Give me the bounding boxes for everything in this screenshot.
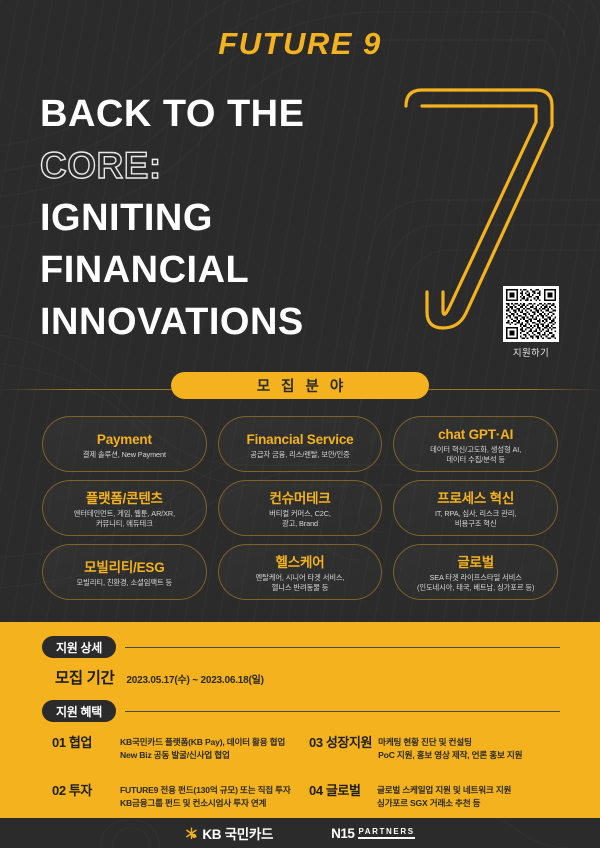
field-card-desc: 공급자 금융, 리스/렌탈, 보안/인증 (250, 450, 349, 460)
period-title: 모집 기간 (55, 666, 114, 688)
field-card[interactable]: 프로세스 혁신 IT, RPA, 심사, 리스크 관리,비용구조 혁신 (393, 480, 558, 536)
headline-line-1: BACK TO THE (40, 88, 440, 140)
footer-contour-lines (0, 818, 600, 848)
kb-logo: KB 국민카드 (185, 823, 273, 843)
field-card-desc: 모빌리티, 친환경, 소셜임팩트 등 (77, 578, 173, 588)
field-card-desc: IT, RPA, 심사, 리스크 관리,비용구조 혁신 (435, 509, 516, 529)
benefit-line: KB금융그룹 펀드 및 컨소시엄사 투자 연계 (120, 797, 291, 810)
field-card[interactable]: 컨슈머테크 버티컬 커머스, C2C,광고, Brand (218, 480, 383, 536)
benefit-line: 싱가포르 SGX 거래소 추천 등 (377, 797, 511, 810)
details-section-label: 지원 상세 (42, 636, 116, 658)
details-section-rule (125, 647, 560, 648)
benefit-line: PoC 지원, 홍보 영상 제작, 언론 홍보 지원 (378, 749, 522, 762)
n15-logo: N15 PARTNERS (331, 826, 414, 841)
fields-card-grid: Payment 결제 솔루션, New Payment Financial Se… (42, 416, 558, 600)
field-card-title: Payment (97, 432, 152, 448)
field-card[interactable]: 헬스케어 멘탈케어, 시니어 타겟 서비스,헬니스 반려동물 등 (218, 544, 383, 600)
headline-line-5: INNOVATIONS (40, 296, 440, 348)
field-card[interactable]: 플랫폼/콘텐츠 엔터테인먼트, 게임, 웹툰, AR/XR,커뮤니티, 에듀테크 (42, 480, 207, 536)
benefit-item: 01 협업 KB국민카드 플랫폼(KB Pay), 데이터 활용 협업 New … (52, 736, 295, 762)
kb-logo-text: KB 국민카드 (202, 823, 273, 843)
field-card-desc: 엔터테인먼트, 게임, 웹툰, AR/XR,커뮤니티, 에듀테크 (74, 509, 175, 529)
program-name: FUTURE 9 (0, 26, 600, 62)
field-card-title: Financial Service (247, 432, 354, 448)
benefit-number: 03 성장지원 (309, 736, 372, 750)
benefit-number: 04 글로벌 (309, 784, 371, 798)
headline-block: BACK TO THE CORE: IGNITING FINANCIAL INN… (40, 88, 440, 348)
field-card-desc: 멘탈케어, 시니어 타겟 서비스,헬니스 반려동물 등 (255, 573, 344, 593)
field-card-desc: 데이터 혁신/고도화, 생성형 AI,데이터 수집/분석 등 (430, 445, 521, 465)
n15-logo-sub: PARTNERS (358, 827, 414, 839)
field-card-title: 모빌리티/ESG (84, 560, 164, 576)
kb-star-icon (185, 827, 198, 840)
poster-root: FUTURE 9 BACK TO THE CORE: IGNITING FINA… (0, 0, 600, 848)
benefits-grid: 01 협업 KB국민카드 플랫폼(KB Pay), 데이터 활용 협업 New … (52, 736, 552, 810)
field-card-title: 글로벌 (457, 555, 494, 571)
field-card[interactable]: chat GPT·AI 데이터 혁신/고도화, 생성형 AI,데이터 수집/분석… (393, 416, 558, 472)
benefit-lines: 마케팅 현황 진단 및 컨설팅 PoC 지원, 홍보 영상 제작, 언론 홍보 … (378, 736, 522, 762)
field-card-title: 플랫폼/콘텐츠 (86, 491, 163, 507)
field-card-desc: 결제 솔루션, New Payment (83, 450, 166, 460)
field-card[interactable]: Financial Service 공급자 금융, 리스/렌탈, 보안/인증 (218, 416, 383, 472)
period-value: 2023.05.17(수) ~ 2023.06.18(일) (126, 671, 263, 686)
benefit-item: 03 성장지원 마케팅 현황 진단 및 컨설팅 PoC 지원, 홍보 영상 제작… (309, 736, 552, 762)
field-card[interactable]: Payment 결제 솔루션, New Payment (42, 416, 207, 472)
benefit-line: FUTURE9 전용 펀드(130억 규모) 또는 직접 투자 (120, 784, 291, 797)
qr-code-icon[interactable] (503, 286, 559, 342)
field-card-desc: SEA 타겟 라이프스타일 서비스(인도네시아, 태국, 베트남, 싱가포르 등… (417, 573, 534, 593)
field-card[interactable]: 모빌리티/ESG 모빌리티, 친환경, 소셜임팩트 등 (42, 544, 207, 600)
field-card[interactable]: 글로벌 SEA 타겟 라이프스타일 서비스(인도네시아, 태국, 베트남, 싱가… (393, 544, 558, 600)
period-row: 모집 기간 2023.05.17(수) ~ 2023.06.18(일) (55, 666, 264, 688)
benefit-lines: 글로벌 스케일업 지원 및 네트워크 지원 싱가포르 SGX 거래소 추천 등 (377, 784, 511, 810)
field-card-title: 헬스케어 (276, 555, 325, 571)
headline-line-2: CORE: (40, 140, 440, 192)
benefit-line: 글로벌 스케일업 지원 및 네트워크 지원 (377, 784, 511, 797)
benefits-section-rule (125, 711, 560, 712)
qr-label: 지원하기 (500, 345, 562, 359)
benefit-line: KB국민카드 플랫폼(KB Pay), 데이터 활용 협업 (120, 736, 285, 749)
field-card-title: 컨슈머테크 (269, 491, 330, 507)
benefits-section-label: 지원 혜택 (42, 700, 116, 722)
benefit-lines: KB국민카드 플랫폼(KB Pay), 데이터 활용 협업 New Biz 공동… (120, 736, 285, 762)
headline-line-4: FINANCIAL (40, 244, 440, 296)
field-card-desc: 버티컬 커머스, C2C,광고, Brand (269, 509, 331, 529)
benefit-item: 04 글로벌 글로벌 스케일업 지원 및 네트워크 지원 싱가포르 SGX 거래… (309, 784, 552, 810)
fields-section-pill: 모집분야 (171, 372, 429, 399)
field-card-title: 프로세스 혁신 (437, 491, 514, 507)
field-card-title: chat GPT·AI (438, 427, 513, 443)
benefit-number: 01 협업 (52, 736, 114, 750)
benefit-lines: FUTURE9 전용 펀드(130억 규모) 또는 직접 투자 KB금융그룹 펀… (120, 784, 291, 810)
headline-line-3: IGNITING (40, 192, 440, 244)
benefit-item: 02 투자 FUTURE9 전용 펀드(130억 규모) 또는 직접 투자 KB… (52, 784, 295, 810)
footer: KB 국민카드 N15 PARTNERS (0, 818, 600, 848)
benefit-line: New Biz 공동 발굴/신사업 협업 (120, 749, 285, 762)
benefit-line: 마케팅 현황 진단 및 컨설팅 (378, 736, 522, 749)
qr-block[interactable]: 지원하기 (500, 286, 562, 359)
benefit-number: 02 투자 (52, 784, 114, 798)
n15-logo-text: N15 (331, 826, 354, 841)
